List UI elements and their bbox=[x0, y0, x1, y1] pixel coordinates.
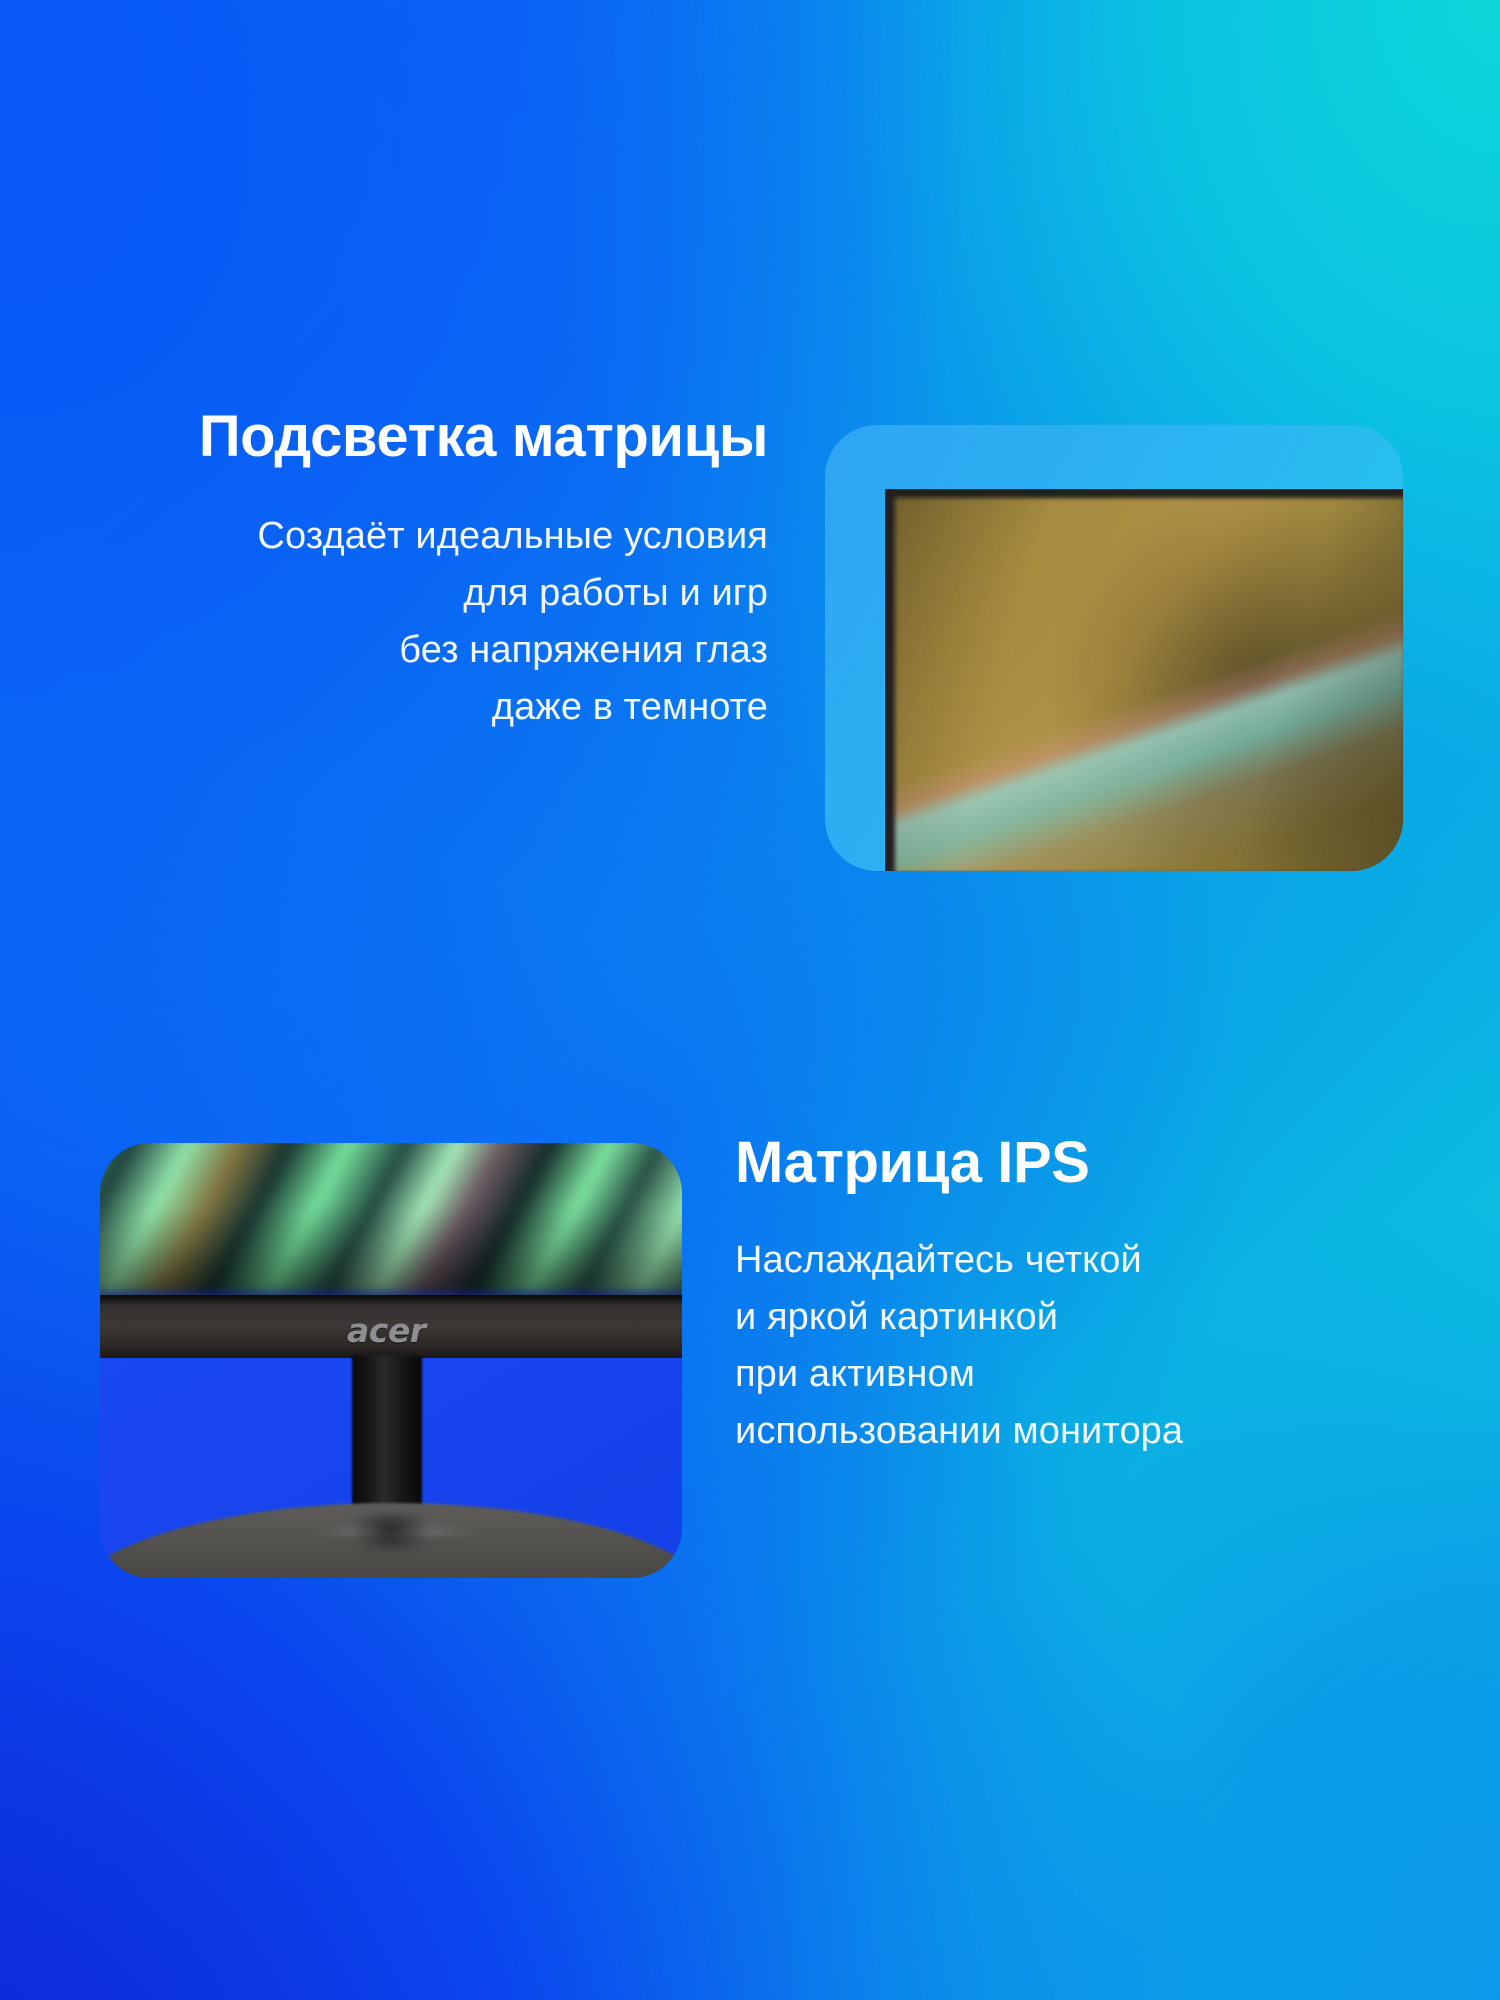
feature-ips-body-line-2: и яркой картинкой bbox=[735, 1289, 1375, 1346]
feature-backlight-body-line-2: для работы и игр bbox=[150, 565, 768, 622]
feature-ips-image-card: acer bbox=[100, 1143, 682, 1578]
feature-ips-body-line-4: использовании монитора bbox=[735, 1403, 1375, 1460]
monitor-screen-shading bbox=[895, 498, 1403, 871]
feature-backlight-body-line-1: Создаёт идеальные условия bbox=[150, 508, 768, 565]
feature-backlight-headline: Подсветка матрицы bbox=[150, 404, 768, 470]
feature-ips-body-line-1: Наслаждайтесь четкой bbox=[735, 1232, 1375, 1289]
feature-ips-text-group: Матрица IPS Наслаждайтесь четкой и яркой… bbox=[735, 1130, 1375, 1460]
monitor-bezel bbox=[885, 489, 1403, 871]
feature-ips-headline: Матрица IPS bbox=[735, 1130, 1375, 1196]
background-gradient-center-blend bbox=[0, 0, 1500, 2000]
feature-backlight-image-card bbox=[825, 425, 1403, 871]
acer-monitor-stand-shadow bbox=[336, 1515, 446, 1567]
feature-backlight-body-line-3: без напряжения глаз bbox=[150, 622, 768, 679]
feature-backlight-body-line-4: даже в темноте bbox=[150, 679, 768, 736]
acer-monitor-screen-shading bbox=[100, 1209, 682, 1301]
feature-backlight-text-group: Подсветка матрицы Создаёт идеальные усло… bbox=[150, 404, 768, 736]
promo-banner: Подсветка матрицы Создаёт идеальные усло… bbox=[0, 0, 1500, 2000]
acer-brand-logo: acer bbox=[347, 1311, 426, 1350]
feature-ips-body-line-3: при активном bbox=[735, 1346, 1375, 1403]
